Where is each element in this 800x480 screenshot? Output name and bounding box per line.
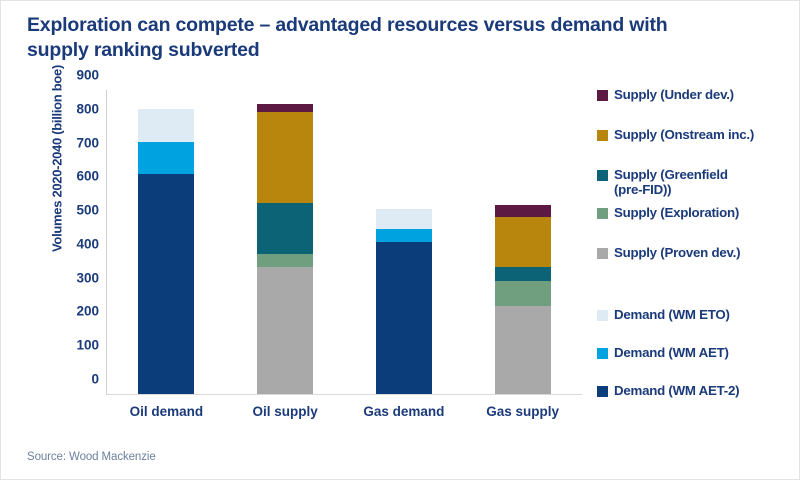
legend-label: Supply (Exploration): [614, 205, 739, 220]
legend-label: Demand (WM AET-2): [614, 383, 739, 398]
y-axis-tick-label: 500: [76, 203, 99, 218]
bar-group-oil-demand: Oil demand: [107, 90, 226, 394]
stacked-bar[interactable]: [138, 90, 194, 394]
bar-segment-supply-proven-dev[interactable]: [495, 306, 551, 394]
legend-swatch-icon: [597, 310, 608, 321]
y-axis-tick-label: 900: [76, 68, 99, 83]
y-axis-tick-label: 300: [76, 270, 99, 285]
legend-swatch-icon: [597, 348, 608, 359]
bar-segment-supply-onstream-inc[interactable]: [257, 112, 313, 203]
legend-item-supply-exploration[interactable]: Supply (Exploration): [597, 205, 797, 220]
y-axis-tick-label: 200: [76, 304, 99, 319]
bar-segment-supply-exploration[interactable]: [257, 254, 313, 268]
bar-segment-supply-under-dev[interactable]: [495, 205, 551, 217]
legend-item-demand-wm-aet-2[interactable]: Demand (WM AET-2): [597, 383, 797, 398]
legend-swatch-icon: [597, 130, 608, 141]
legend-label: Supply (Under dev.): [614, 87, 734, 102]
legend-item-demand-wm-aet[interactable]: Demand (WM AET): [597, 345, 797, 360]
bar-segment-demand-wm-aet[interactable]: [376, 229, 432, 243]
bar-segment-supply-proven-dev[interactable]: [257, 267, 313, 394]
legend-label: Supply (Greenfield (pre-FID)): [614, 167, 728, 198]
x-axis-tick-label: Oil demand: [107, 404, 226, 419]
bar-segment-demand-wm-aet-2[interactable]: [138, 174, 194, 394]
y-axis-tick-label: 100: [76, 338, 99, 353]
stacked-bar[interactable]: [495, 90, 551, 394]
stacked-bar[interactable]: [376, 90, 432, 394]
y-axis-title: Volumes 2020-2040 (billion boe): [50, 9, 65, 309]
chart-container: Exploration can compete – advantaged res…: [0, 0, 800, 480]
x-axis-tick-label: Gas demand: [345, 404, 464, 419]
legend-label: Demand (WM AET): [614, 345, 729, 360]
legend-item-demand-wm-eto[interactable]: Demand (WM ETO): [597, 307, 797, 322]
legend-label: Supply (Onstream inc.): [614, 127, 754, 142]
bar-segment-demand-wm-eto[interactable]: [376, 209, 432, 229]
bar-segment-supply-onstream-inc[interactable]: [495, 217, 551, 268]
bar-segment-supply-greenfield-pre-fid[interactable]: [495, 267, 551, 281]
bar-group-gas-demand: Gas demand: [345, 90, 464, 394]
bar-segment-demand-wm-aet[interactable]: [138, 142, 194, 174]
bar-segment-supply-exploration[interactable]: [495, 281, 551, 306]
legend-swatch-icon: [597, 386, 608, 397]
legend-label: Supply (Proven dev.): [614, 245, 740, 260]
bar-segment-demand-wm-aet-2[interactable]: [376, 242, 432, 394]
chart-title: Exploration can compete – advantaged res…: [27, 13, 727, 63]
source-note: Source: Wood Mackenzie: [27, 451, 156, 463]
bar-group-oil-supply: Oil supply: [226, 90, 345, 394]
bar-segment-demand-wm-eto[interactable]: [138, 109, 194, 143]
legend-swatch-icon: [597, 248, 608, 259]
bar-group-gas-supply: Gas supply: [463, 90, 582, 394]
y-axis-tick-label: 0: [91, 372, 99, 387]
x-axis-tick-label: Oil supply: [226, 404, 345, 419]
legend-label: Demand (WM ETO): [614, 307, 730, 322]
bar-segment-supply-greenfield-pre-fid[interactable]: [257, 203, 313, 254]
legend-item-supply-proven-dev[interactable]: Supply (Proven dev.): [597, 245, 797, 260]
y-axis-tick-label: 800: [76, 101, 99, 116]
legend-swatch-icon: [597, 90, 608, 101]
y-axis-tick-label: 600: [76, 169, 99, 184]
legend-item-supply-under-dev[interactable]: Supply (Under dev.): [597, 87, 797, 102]
stacked-bar[interactable]: [257, 90, 313, 394]
bar-segment-supply-under-dev[interactable]: [257, 104, 313, 112]
legend-item-supply-greenfield-pre-fid[interactable]: Supply (Greenfield (pre-FID)): [597, 167, 797, 198]
legend-swatch-icon: [597, 208, 608, 219]
plot-area: 0100200300400500600700800900 Oil demandO…: [106, 90, 582, 395]
x-axis-tick-label: Gas supply: [463, 404, 582, 419]
legend-item-supply-onstream-inc[interactable]: Supply (Onstream inc.): [597, 127, 797, 142]
legend-swatch-icon: [597, 170, 608, 181]
y-axis-tick-label: 400: [76, 236, 99, 251]
y-axis-tick-label: 700: [76, 135, 99, 150]
